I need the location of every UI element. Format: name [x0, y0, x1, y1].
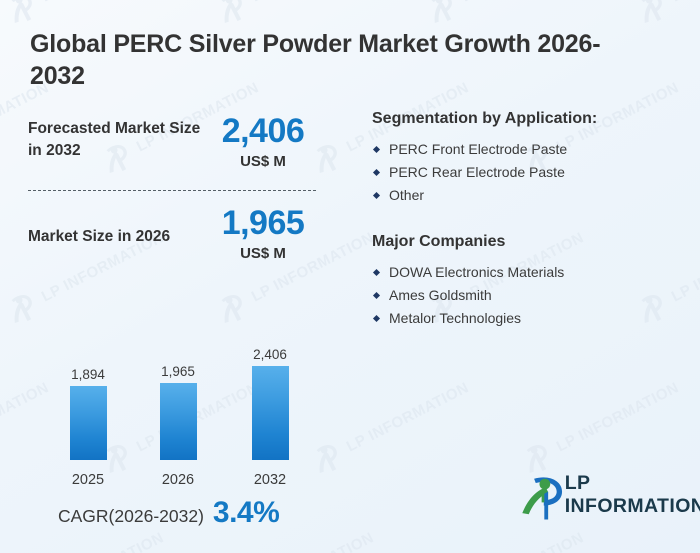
infographic-canvas: LP INFORMATION LP INFORMATION LP INFORMA… [0, 0, 700, 553]
watermark-text: LP INFORMATION [459, 0, 587, 5]
logo-text: LP INFORMATION [565, 472, 700, 528]
bullet-diamond-icon [373, 192, 380, 199]
watermark-text: LP INFORMATION [39, 0, 167, 5]
list-item: Ames Goldsmith [372, 285, 672, 306]
bullet-diamond-icon [373, 146, 380, 153]
bar-rect [70, 386, 107, 460]
bar-column-2026: 1,9652026 [138, 330, 218, 490]
watermark-tile: LP INFORMATION [305, 371, 475, 480]
market-size-bar-chart: 1,89420251,96520262,4062032 [48, 330, 318, 490]
stat-value: 1,965 [208, 206, 318, 242]
watermark-text: LP INFORMATION [669, 529, 700, 553]
stat-value: 2,406 [208, 114, 318, 150]
bar-value-label: 1,894 [48, 367, 128, 382]
watermark-tile: LP INFORMATION [515, 371, 685, 480]
stat-divider [28, 190, 316, 191]
stat-market-size-2026: Market Size in 2026 1,965 US$ M [28, 206, 328, 262]
watermark-text: LP INFORMATION [459, 529, 587, 553]
bar-rect [160, 383, 197, 460]
list-item-label: Metalor Technologies [389, 310, 521, 326]
stat-unit: US$ M [208, 245, 318, 262]
list-item-label: Other [389, 187, 424, 203]
stat-label: Forecasted Market Size in 2032 [28, 114, 208, 163]
cagr-value: 3.4% [213, 496, 279, 530]
watermark-tile: LP INFORMATION [630, 0, 700, 30]
list-item: PERC Rear Electrode Paste [372, 162, 672, 183]
list-item: PERC Front Electrode Paste [372, 139, 672, 160]
watermark-text: LP INFORMATION [554, 379, 682, 455]
list-item-label: PERC Front Electrode Paste [389, 141, 567, 157]
stat-label: Market Size in 2026 [28, 206, 208, 248]
list-item-label: Ames Goldsmith [389, 287, 492, 303]
segmentation-list: PERC Front Electrode Paste PERC Rear Ele… [372, 139, 672, 206]
page-title: Global PERC Silver Powder Market Growth … [30, 28, 630, 92]
stat-forecasted-market-size: Forecasted Market Size in 2032 2,406 US$… [28, 114, 328, 170]
bar-value-label: 1,965 [138, 364, 218, 379]
bar-column-2032: 2,4062032 [230, 330, 310, 490]
major-companies-section: Major Companies DOWA Electronics Materia… [372, 233, 672, 331]
bullet-diamond-icon [373, 169, 380, 176]
bullet-diamond-icon [373, 315, 380, 322]
watermark-text: LP INFORMATION [669, 229, 700, 305]
bar-value-label: 2,406 [230, 347, 310, 362]
watermark-text: LP INFORMATION [669, 0, 700, 5]
bullet-diamond-icon [373, 292, 380, 299]
stat-value-group: 1,965 US$ M [208, 206, 318, 262]
companies-heading: Major Companies [372, 233, 672, 251]
list-item: Metalor Technologies [372, 308, 672, 329]
stat-unit: US$ M [208, 153, 318, 170]
bullet-diamond-icon [373, 269, 380, 276]
watermark-text: LP INFORMATION [249, 0, 377, 5]
watermark-text: LP INFORMATION [0, 379, 51, 455]
bar-category-label: 2026 [138, 472, 218, 488]
list-item: DOWA Electronics Materials [372, 262, 672, 283]
watermark-tile: LP INFORMATION [420, 0, 590, 30]
segmentation-heading: Segmentation by Application: [372, 110, 672, 128]
cagr-row: CAGR(2026-2032) 3.4% [58, 496, 279, 530]
bar-category-label: 2025 [48, 472, 128, 488]
watermark-text: LP INFORMATION [39, 529, 167, 553]
list-item: Other [372, 185, 672, 206]
cagr-label: CAGR(2026-2032) [58, 506, 204, 527]
bar-category-label: 2032 [230, 472, 310, 488]
lp-information-logo-icon [518, 466, 572, 528]
bar-rect [252, 366, 289, 460]
watermark-tile: LP INFORMATION [210, 0, 380, 30]
bar-column-2025: 1,8942025 [48, 330, 128, 490]
companies-list: DOWA Electronics Materials Ames Goldsmit… [372, 262, 672, 329]
watermark-text: LP INFORMATION [249, 529, 377, 553]
watermark-tile: LP INFORMATION [0, 0, 170, 30]
segmentation-section: Segmentation by Application: PERC Front … [372, 110, 672, 208]
stat-value-group: 2,406 US$ M [208, 114, 318, 170]
watermark-text: LP INFORMATION [344, 379, 472, 455]
list-item-label: PERC Rear Electrode Paste [389, 164, 565, 180]
lp-information-logo: LP INFORMATION [518, 466, 700, 528]
list-item-label: DOWA Electronics Materials [389, 264, 564, 280]
watermark-tile: LP INFORMATION [0, 371, 55, 480]
